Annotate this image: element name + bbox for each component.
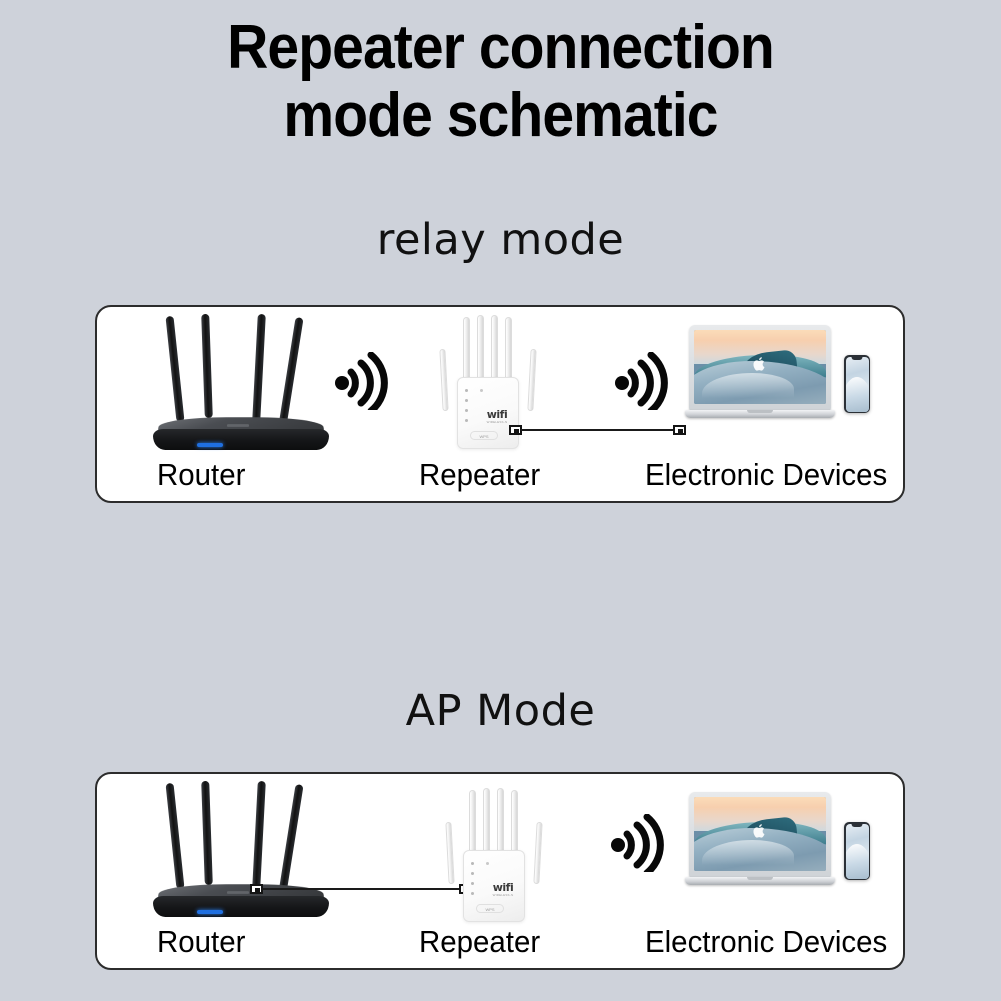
router-icon <box>145 779 335 919</box>
router-antenna <box>278 317 303 427</box>
laptop-and-phone-icon <box>685 792 870 897</box>
phone-notch <box>852 824 863 827</box>
router-logo <box>227 891 249 894</box>
router-antenna <box>165 316 184 422</box>
apple-logo-icon <box>754 824 767 839</box>
laptop-lid <box>689 325 831 411</box>
laptop-trackpad-notch <box>747 877 773 880</box>
repeater-led <box>465 419 468 422</box>
repeater-led <box>471 892 474 895</box>
phone-notch <box>852 357 863 360</box>
laptop-lid <box>689 792 831 878</box>
repeater-led <box>465 389 468 392</box>
laptop-icon <box>685 325 835 423</box>
laptop-icon <box>685 792 835 890</box>
relay-mode-panel: wifi WIRELESS-N WPS <box>95 305 905 503</box>
repeater-body: wifi WIRELESS-N WPS <box>457 377 519 449</box>
repeater-wps-button[interactable]: WPS <box>470 431 498 440</box>
repeater-wps-button[interactable]: WPS <box>476 904 504 913</box>
repeater-brand-sub: WIRELESS-N <box>482 420 512 424</box>
router-antenna <box>165 783 184 889</box>
wifi-signal-icon <box>329 352 389 410</box>
ethernet-cable-icon <box>521 429 676 431</box>
router-antenna <box>278 784 303 894</box>
ap-panel-labels: Router Repeater Electronic Devices <box>97 916 903 960</box>
repeater-led <box>471 882 474 885</box>
wifi-signal-glyph <box>605 814 665 872</box>
laptop-base <box>685 410 835 418</box>
repeater-brand-name: wifi <box>488 883 518 893</box>
repeater-icon: wifi WIRELESS-N WPS <box>439 309 539 449</box>
ap-mode-panel: wifi WIRELESS-N WPS <box>95 772 905 970</box>
wifi-signal-glyph <box>329 352 389 410</box>
page-title: Repeater connection mode schematic <box>40 14 961 150</box>
wifi-signal-glyph <box>609 352 669 410</box>
relay-panel-labels: Router Repeater Electronic Devices <box>97 449 903 493</box>
router-body <box>153 416 329 450</box>
repeater-brand-logo: wifi WIRELESS-N <box>482 410 512 424</box>
repeater-led <box>480 389 483 392</box>
phone-screen <box>846 824 869 879</box>
repeater-led <box>471 862 474 865</box>
router-front-face <box>153 896 329 917</box>
laptop-base <box>685 877 835 885</box>
repeater-led <box>486 862 489 865</box>
router-antenna <box>252 781 266 889</box>
label-router: Router <box>157 924 245 960</box>
router-antenna <box>201 314 213 418</box>
repeater-brand-sub: WIRELESS-N <box>488 893 518 897</box>
repeater-led-group <box>471 862 474 902</box>
laptop-screen <box>694 330 826 404</box>
phone-icon <box>844 355 870 413</box>
label-electronic-devices: Electronic Devices <box>645 457 887 493</box>
page-title-line-2: mode schematic <box>40 82 961 150</box>
relay-mode-heading: relay mode <box>0 215 1001 265</box>
router-logo <box>227 424 249 427</box>
label-router: Router <box>157 457 245 493</box>
phone-icon <box>844 822 870 880</box>
label-repeater: Repeater <box>419 924 540 960</box>
label-repeater: Repeater <box>419 457 540 493</box>
wifi-signal-icon <box>605 814 665 872</box>
phone-screen <box>846 357 869 412</box>
laptop-trackpad-notch <box>747 410 773 413</box>
page-title-line-1: Repeater connection <box>227 13 774 82</box>
repeater-led-group <box>465 389 468 429</box>
repeater-led <box>471 872 474 875</box>
repeater-antenna <box>527 349 536 411</box>
wifi-signal-icon <box>609 352 669 410</box>
laptop-and-phone-icon <box>685 325 870 430</box>
router-antenna <box>201 781 213 885</box>
repeater-body: wifi WIRELESS-N WPS <box>463 850 525 922</box>
ap-mode-heading: AP Mode <box>0 686 1001 736</box>
router-icon <box>145 312 335 452</box>
ethernet-cable-icon <box>262 888 462 890</box>
repeater-brand-name: wifi <box>482 410 512 420</box>
phone-wallpaper <box>846 377 869 411</box>
repeater-led <box>465 409 468 412</box>
phone-wallpaper <box>846 844 869 878</box>
repeater-icon: wifi WIRELESS-N WPS <box>445 782 545 922</box>
repeater-antenna <box>533 822 542 884</box>
laptop-screen <box>694 797 826 871</box>
router-antenna <box>252 314 266 422</box>
router-led-indicator <box>197 443 223 447</box>
repeater-antenna <box>439 349 448 411</box>
repeater-antenna <box>445 822 454 884</box>
repeater-led <box>465 399 468 402</box>
router-led-indicator <box>197 910 223 914</box>
label-electronic-devices: Electronic Devices <box>645 924 887 960</box>
repeater-brand-logo: wifi WIRELESS-N <box>488 883 518 897</box>
router-front-face <box>153 429 329 450</box>
apple-logo-icon <box>754 357 767 372</box>
